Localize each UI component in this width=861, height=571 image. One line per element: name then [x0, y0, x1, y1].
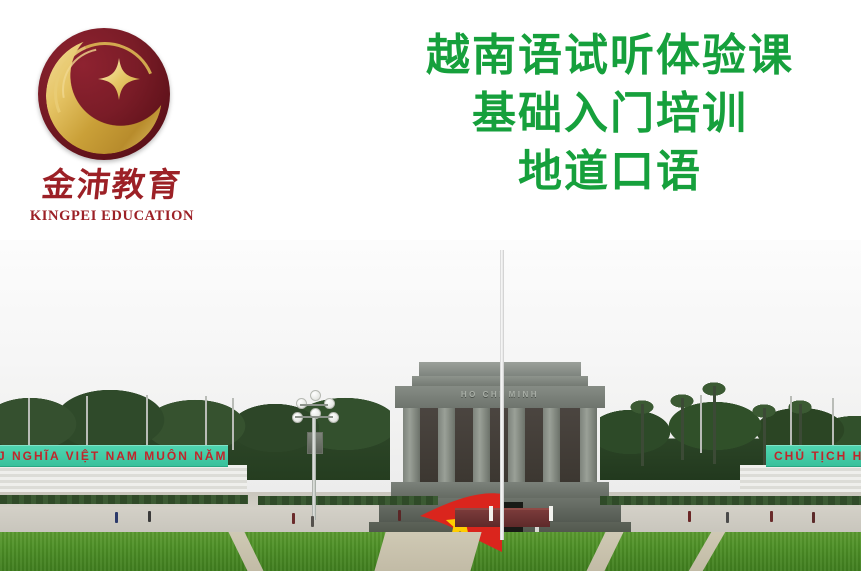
flag-pole-row-2 [86, 396, 88, 450]
flag-pole-row-1 [28, 398, 30, 450]
flag-pole-row-3 [146, 395, 148, 450]
palm-tree [690, 370, 738, 466]
banner-right-text: CHỦ TỊCH HỒ [774, 449, 861, 463]
visitor [311, 516, 314, 527]
honor-guard-plaza [489, 506, 493, 521]
flag-pole-row-5 [232, 398, 234, 450]
four-point-star-icon [98, 58, 140, 100]
visitor [770, 511, 773, 522]
mausoleum-column [508, 408, 525, 482]
flagpole [500, 250, 504, 540]
slogan-banner-right: CHỦ TỊCH HỒ [766, 445, 861, 467]
brand-name-en: KINGPEI EDUCATION [12, 208, 212, 225]
palm-tree [620, 388, 664, 468]
hedge-row-center [258, 496, 438, 505]
brand-name-cn: 金沛教育 [10, 168, 213, 201]
hero-photo: HO CHI MINH [0, 240, 861, 571]
lamp-arm [300, 404, 328, 406]
kingpei-emblem-icon [38, 28, 170, 160]
visitor [688, 511, 691, 522]
mausoleum-column [403, 408, 420, 482]
ornate-street-lamp-icon [292, 390, 336, 520]
headline-line-3: 地道口语 [395, 150, 825, 194]
mausoleum-column [473, 408, 490, 482]
visitor [812, 512, 815, 523]
headline-block: 越南语试听体验课 基础入门培训 地道口语 [395, 34, 825, 194]
palm-trunk [713, 386, 716, 464]
poster-header: 金沛教育 KINGPEI EDUCATION 越南语试听体验课 基础入门培训 地… [0, 0, 861, 240]
palm-trunk [641, 404, 644, 466]
mausoleum-column [438, 408, 455, 482]
poster-canvas: 金沛教育 KINGPEI EDUCATION 越南语试听体验课 基础入门培训 地… [0, 0, 861, 571]
visitor [292, 513, 295, 524]
headline-line-1: 越南语试听体验课 [395, 34, 825, 78]
hedge-row-right [600, 496, 861, 505]
banner-left-text: J NGHĨA VIỆT NAM MUÔN NĂM ! [0, 449, 228, 463]
visitor [115, 512, 118, 523]
lamp-post [312, 418, 316, 520]
brand-logo-block: 金沛教育 KINGPEI EDUCATION [12, 28, 212, 228]
honor-guard-plaza [549, 506, 553, 521]
lawn-path-center [374, 532, 481, 571]
mausoleum-column [543, 408, 560, 482]
headline-line-2: 基础入门培训 [395, 92, 825, 136]
visitor [148, 511, 151, 522]
visitor [726, 512, 729, 523]
flag-pole-row-7 [790, 396, 792, 452]
flag-pole-row-8 [832, 398, 834, 452]
palm-trunk [681, 398, 684, 460]
flag-pole-row-6 [700, 395, 702, 453]
lamp-globe [310, 390, 321, 401]
hedge-row-left [0, 495, 248, 504]
slogan-banner-left: J NGHĨA VIỆT NAM MUÔN NĂM ! [0, 445, 228, 467]
flag-pole-row-4 [205, 396, 207, 450]
mausoleum-column [580, 408, 597, 482]
visitor [398, 510, 401, 521]
